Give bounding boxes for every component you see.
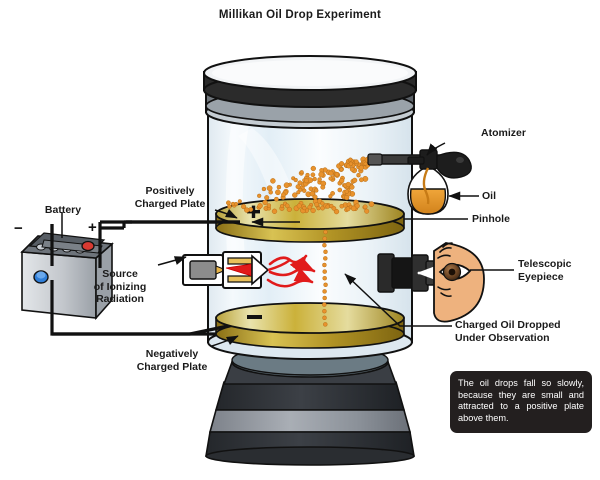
battery-plus-sign: +	[88, 219, 97, 236]
battery-minus-sign: −	[14, 220, 23, 237]
label-negatively-charged-plate: Negatively Charged Plate	[122, 348, 222, 373]
negative-plate	[216, 303, 404, 348]
label-ionizing-radiation-source: Source of Ionizing Radiation	[78, 268, 162, 306]
telescopic-eyepiece	[378, 254, 440, 292]
label-battery: Battery	[34, 204, 92, 217]
info-note-text: The oil drops fall so slowly, because th…	[450, 371, 592, 424]
battery-positive-terminal	[82, 242, 94, 251]
observer-eye	[434, 243, 484, 322]
label-pinhole: Pinhole	[472, 213, 532, 226]
apparatus-base	[206, 345, 414, 465]
label-atomizer: Atomizer	[481, 127, 561, 140]
label-charged-oil-dropped: Charged Oil Dropped Under Observation	[455, 319, 597, 344]
label-oil: Oil	[482, 190, 522, 203]
atomizer-neck-joint	[408, 157, 424, 164]
chamber-lid	[204, 56, 416, 107]
label-telescopic-eyepiece: Telescopic Eyepiece	[518, 258, 598, 283]
label-positively-charged-plate: Positively Charged Plate	[122, 185, 218, 210]
info-note-box: The oil drops fall so slowly, because th…	[450, 371, 592, 433]
diagram-canvas: Millikan Oil Drop Experiment	[0, 0, 600, 480]
